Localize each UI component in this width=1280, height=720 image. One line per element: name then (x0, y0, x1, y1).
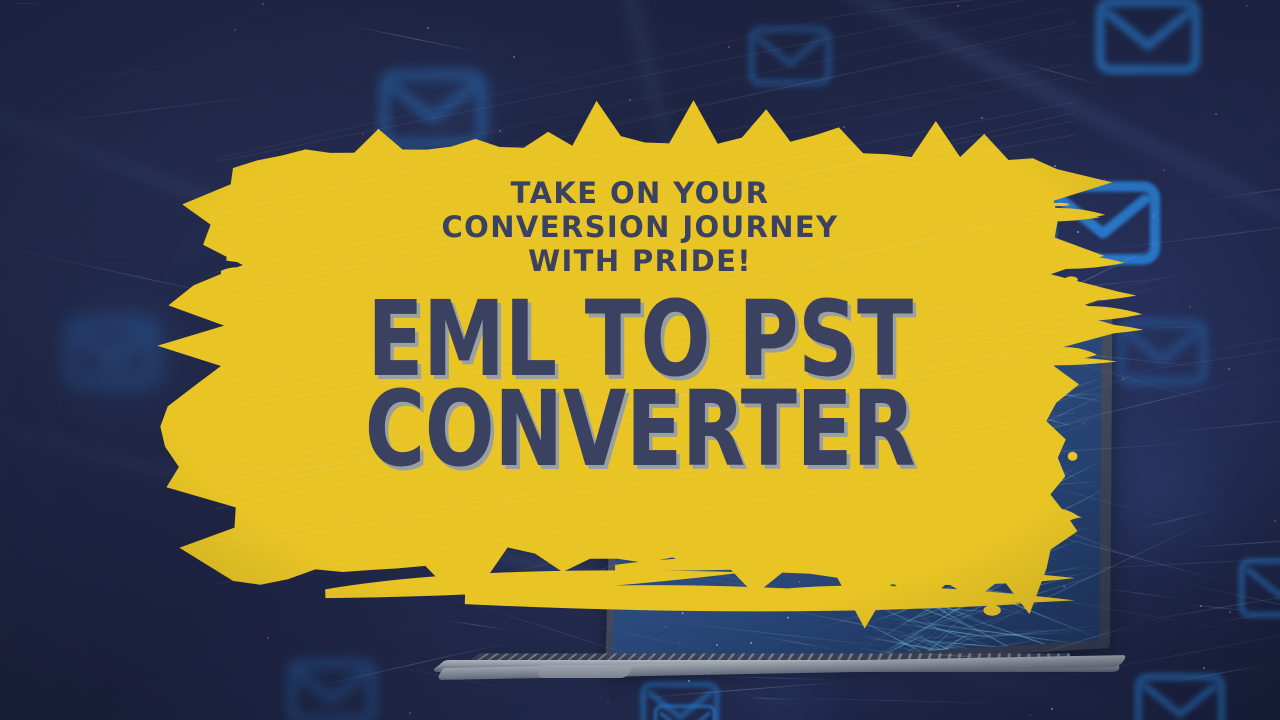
light-spark (682, 612, 684, 614)
brush-splatter-dot (983, 592, 991, 600)
laptop-trackpad (536, 665, 632, 678)
light-spark (678, 641, 680, 643)
brush-splatter-dot (233, 556, 239, 561)
brush-splatter-dot (237, 551, 251, 555)
promo-banner: TAKE ON YOUR CONVERSION JOURNEY WITH PRI… (0, 0, 1280, 720)
tagline-line-2: CONVERSION JOURNEY (0, 210, 1280, 244)
page-title: EML TO PST CONVERTER (77, 294, 1203, 474)
brush-splatter-dot (1049, 496, 1053, 503)
brush-splatter-dot (277, 512, 282, 516)
envelope-icon-far-right-edge (1232, 540, 1280, 636)
tagline: TAKE ON YOUR CONVERSION JOURNEY WITH PRI… (0, 176, 1280, 278)
tagline-line-3: WITH PRIDE! (0, 244, 1280, 278)
envelope-icon-top-center (742, 8, 838, 104)
brush-splatter-dot (983, 605, 1000, 616)
tagline-line-1: TAKE ON YOUR (0, 176, 1280, 210)
headline-block: TAKE ON YOUR CONVERSION JOURNEY WITH PRI… (0, 176, 1280, 474)
envelope-icon-top-right (1088, 0, 1208, 96)
light-spark (665, 626, 667, 628)
envelope-icon-bottom-right (1128, 654, 1232, 720)
light-spark (787, 617, 789, 619)
light-spark (915, 635, 917, 637)
headline-line-2: CONVERTER (77, 384, 1203, 474)
brush-splatter-dot (1033, 499, 1040, 509)
light-spark (716, 644, 718, 646)
light-spark (750, 642, 752, 644)
brush-splatter-dot (270, 562, 286, 566)
envelope-icon-bottom-left (282, 642, 382, 720)
